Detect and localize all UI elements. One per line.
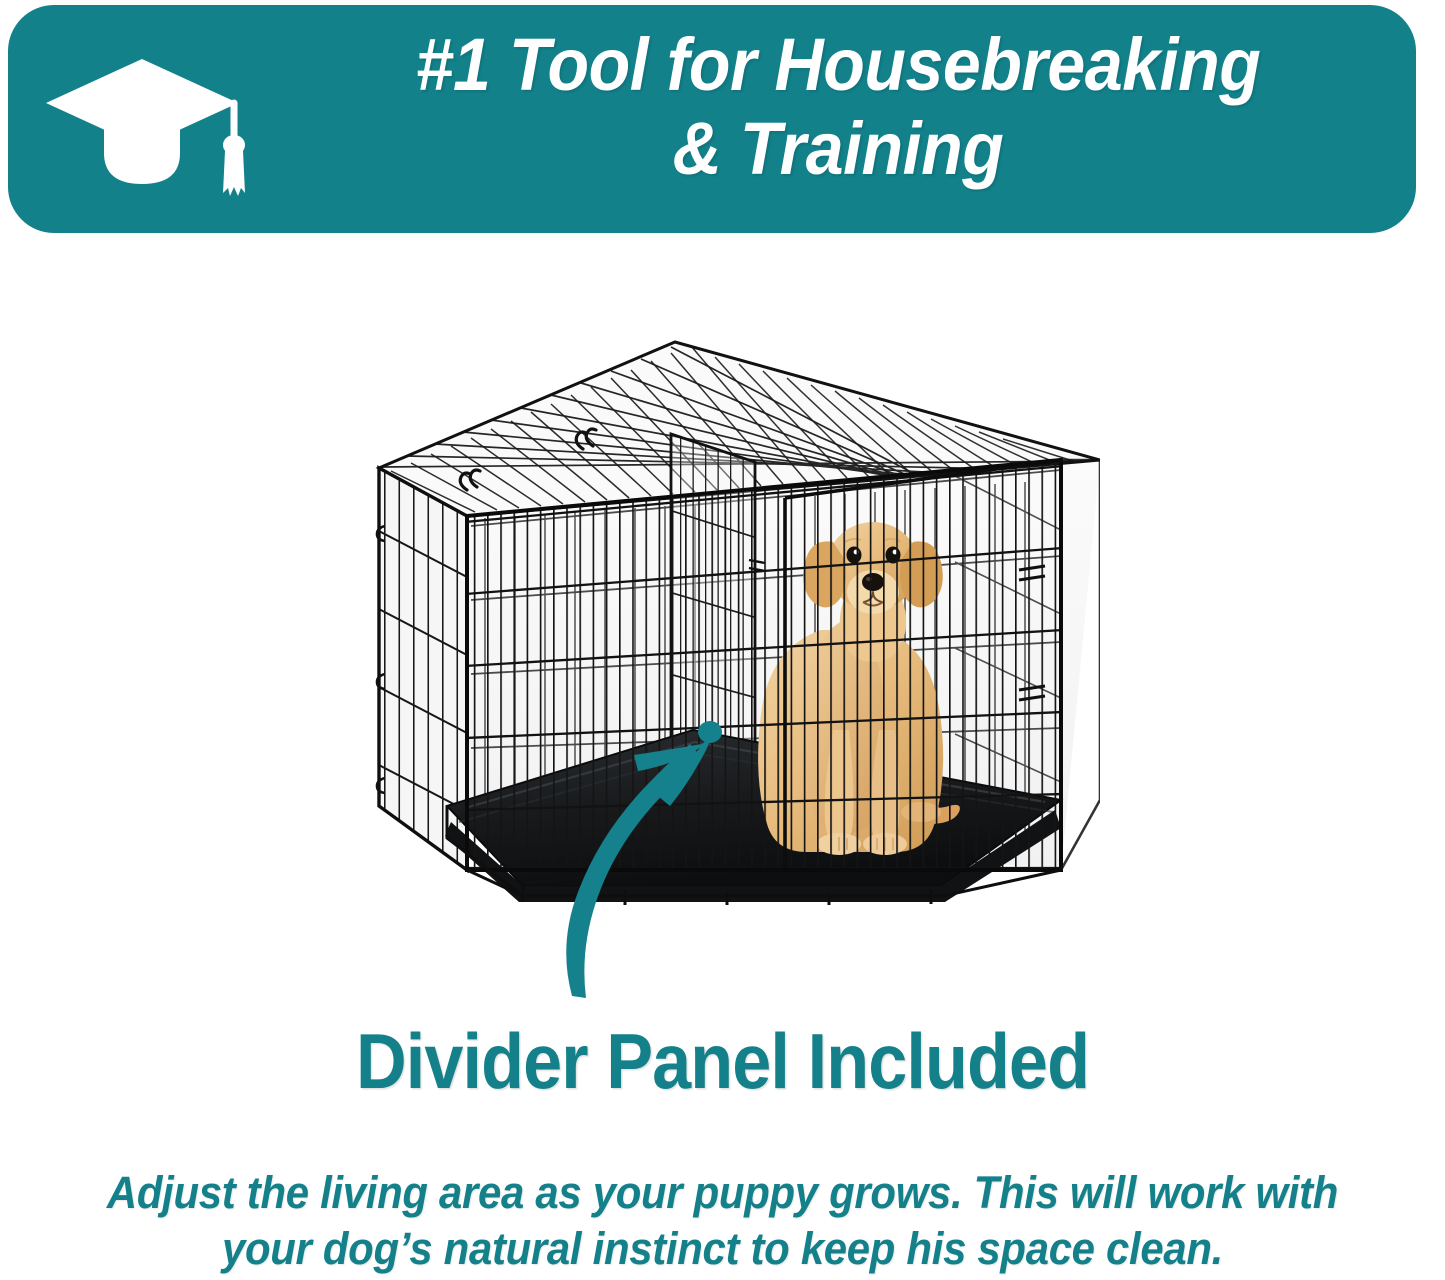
graduation-cap-icon xyxy=(42,41,267,211)
page-subheading: Divider Panel Included xyxy=(72,1018,1373,1104)
banner-title: #1 Tool for Housebreaking & Training xyxy=(323,23,1353,191)
body-copy: Adjust the living area as your puppy gro… xyxy=(97,1165,1348,1277)
infographic-page: #1 Tool for Housebreaking & Training xyxy=(0,0,1445,1280)
header-banner: #1 Tool for Housebreaking & Training xyxy=(8,5,1416,233)
product-photo xyxy=(355,330,1100,905)
